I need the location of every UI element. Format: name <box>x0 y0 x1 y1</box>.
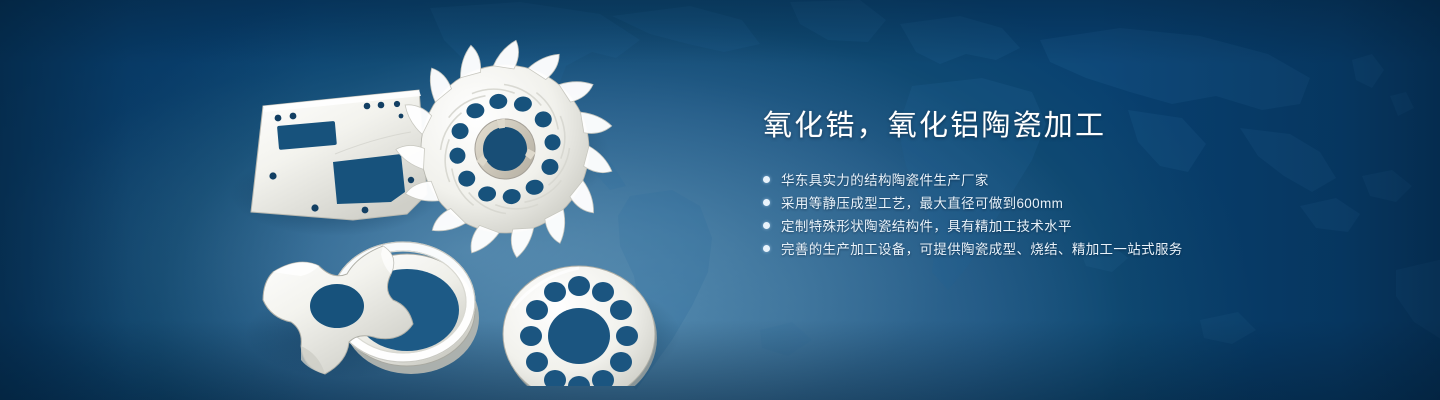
list-item-label: 定制特殊形状陶瓷结构件，具有精加工技术水平 <box>781 215 1072 235</box>
list-item-label: 完善的生产加工设备，可提供陶瓷成型、烧结、精加工一站式服务 <box>781 238 1183 258</box>
ceramic-impeller <box>383 34 629 272</box>
list-item-label: 华东具实力的结构陶瓷件生产厂家 <box>781 169 989 189</box>
banner-copy: 氧化锆，氧化铝陶瓷加工 华东具实力的结构陶瓷件生产厂家 采用等静压成型工艺，最大… <box>763 108 1403 260</box>
hero-banner: 氧化锆，氧化铝陶瓷加工 华东具实力的结构陶瓷件生产厂家 采用等静压成型工艺，最大… <box>0 0 1440 400</box>
list-item: 定制特殊形状陶瓷结构件，具有精加工技术水平 <box>763 214 1403 237</box>
bullet-dot-icon <box>763 222 770 229</box>
feature-list: 华东具实力的结构陶瓷件生产厂家 采用等静压成型工艺，最大直径可做到600mm 定… <box>763 168 1403 260</box>
bullet-dot-icon <box>763 199 770 206</box>
list-item: 华东具实力的结构陶瓷件生产厂家 <box>763 168 1403 191</box>
bullet-dot-icon <box>763 245 770 252</box>
list-item: 采用等静压成型工艺，最大直径可做到600mm <box>763 191 1403 214</box>
list-item-label: 采用等静压成型工艺，最大直径可做到600mm <box>781 192 1063 212</box>
page-title: 氧化锆，氧化铝陶瓷加工 <box>763 108 1403 145</box>
product-photo-cluster <box>215 34 695 386</box>
list-item: 完善的生产加工设备，可提供陶瓷成型、烧结、精加工一站式服务 <box>763 237 1403 260</box>
ceramic-perforated-ring <box>503 266 657 386</box>
bullet-dot-icon <box>763 176 770 183</box>
